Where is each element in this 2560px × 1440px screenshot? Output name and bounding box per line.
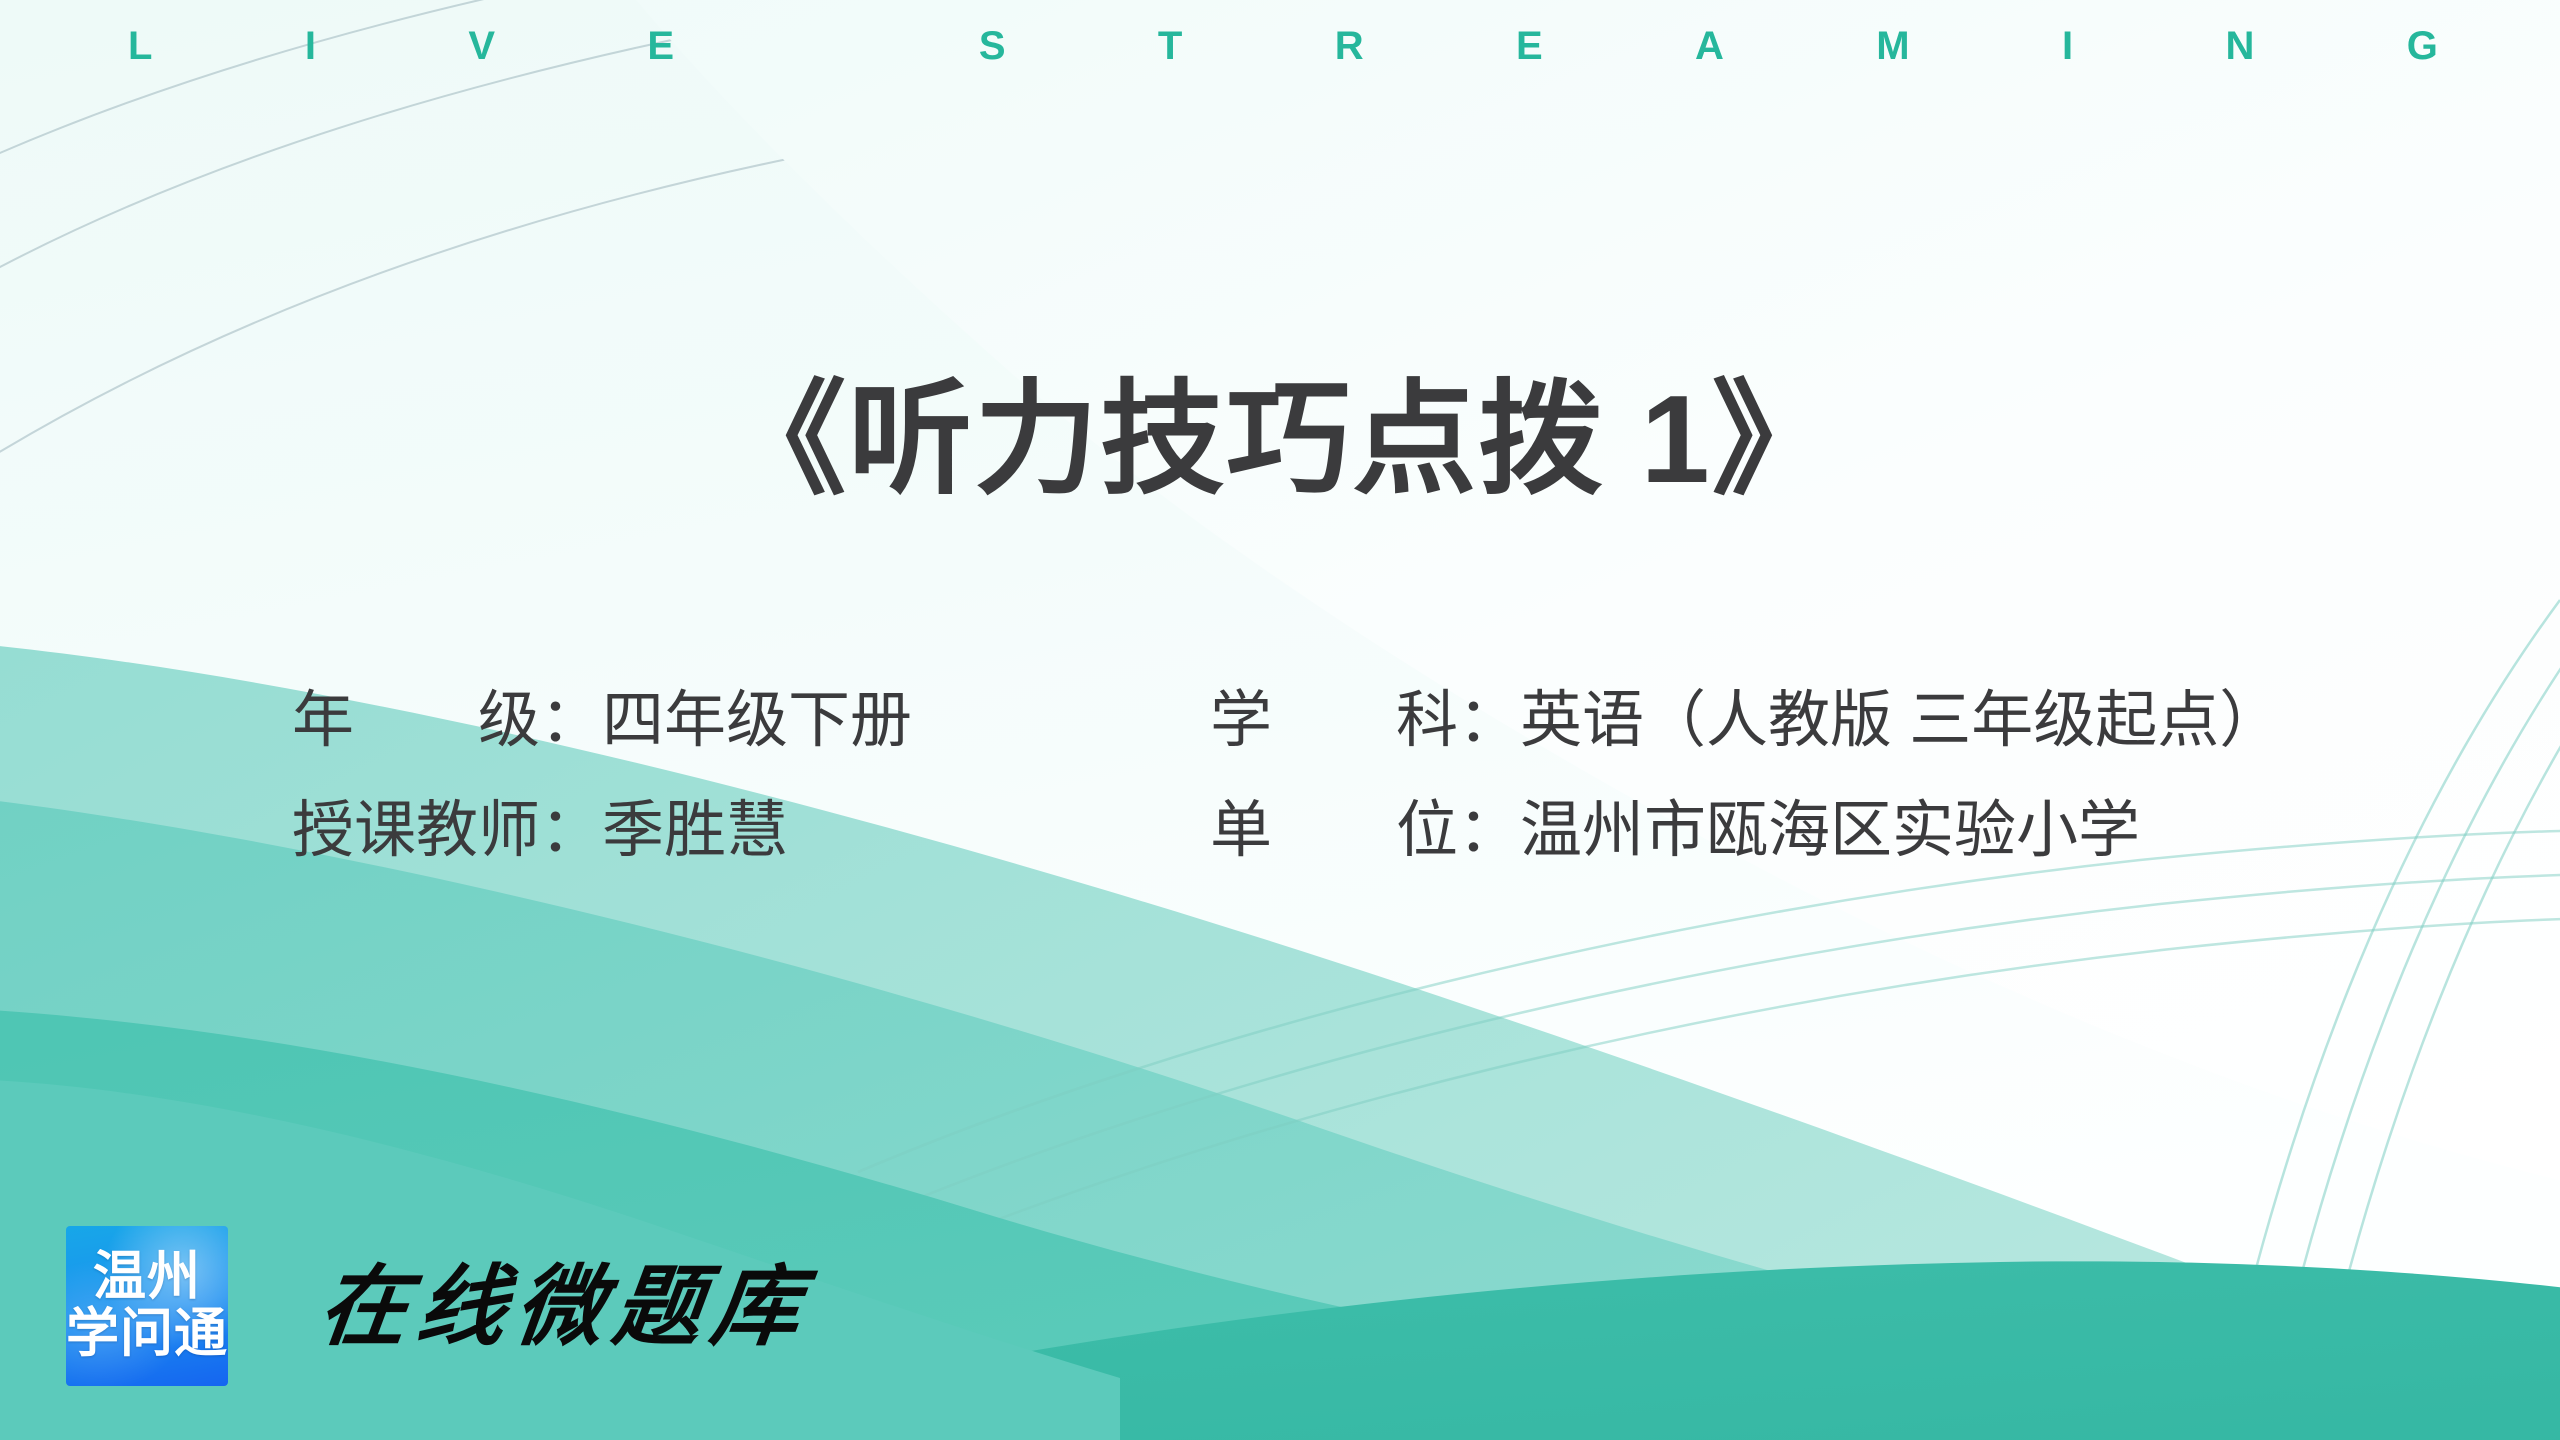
live-streaming-kicker: L I V E S T R E A M I N G [128, 18, 2438, 74]
logo-line-city: 温州 [93, 1249, 201, 1306]
meta-row: 年 级： 四年级下册 学 科： 英语（人教版 三年级起点） [292, 690, 2432, 800]
meta-value-grade: 四年级下册 [602, 690, 912, 752]
slide-title: 《听力技巧点拨 1》 [0, 372, 2560, 508]
meta-label-grade: 年 级： [292, 690, 602, 752]
brand-script-text: 在线微题库 [315, 1262, 816, 1350]
meta-label-school: 单 位： [1210, 800, 1520, 862]
kicker-letter: G [2407, 26, 2438, 66]
meta-value-subject: 英语（人教版 三年级起点） [1520, 690, 2281, 752]
meta-field-teacher: 授课教师： 季胜慧 [292, 800, 1210, 862]
meta-label-teacher: 授课教师： [292, 800, 602, 862]
meta-label-subject: 学 科： [1210, 690, 1520, 752]
meta-field-subject: 学 科： 英语（人教版 三年级起点） [1210, 690, 2281, 752]
logo-line-product: 学问通 [66, 1306, 228, 1363]
kicker-letter: I [305, 26, 316, 66]
kicker-letter: T [1158, 26, 1182, 66]
kicker-letter: E [647, 26, 674, 66]
meta-value-school: 温州市瓯海区实验小学 [1520, 800, 2140, 862]
kicker-letter: N [2225, 26, 2254, 66]
kicker-letter: R [1335, 26, 1364, 66]
kicker-letter: A [1695, 26, 1724, 66]
meta-row: 授课教师： 季胜慧 单 位： 温州市瓯海区实验小学 [292, 800, 2432, 910]
kicker-letter: E [1516, 26, 1543, 66]
wenzhou-xuewentong-logo: 温州 学问通 [66, 1226, 228, 1386]
meta-value-teacher: 季胜慧 [602, 800, 788, 862]
kicker-letter: S [979, 26, 1006, 66]
presentation-slide: L I V E S T R E A M I N G 《听力技巧点拨 1》 年 级… [0, 0, 2560, 1440]
slide-meta-block: 年 级： 四年级下册 学 科： 英语（人教版 三年级起点） 授课教师： 季胜慧 … [292, 690, 2432, 910]
meta-field-grade: 年 级： 四年级下册 [292, 690, 1210, 752]
kicker-letter: M [1876, 26, 1909, 66]
meta-field-school: 单 位： 温州市瓯海区实验小学 [1210, 800, 2140, 862]
footer-brand: 温州 学问通 在线微题库 [66, 1226, 810, 1386]
kicker-letter: I [2062, 26, 2073, 66]
kicker-letter: L [128, 26, 152, 66]
kicker-letter: V [468, 26, 495, 66]
